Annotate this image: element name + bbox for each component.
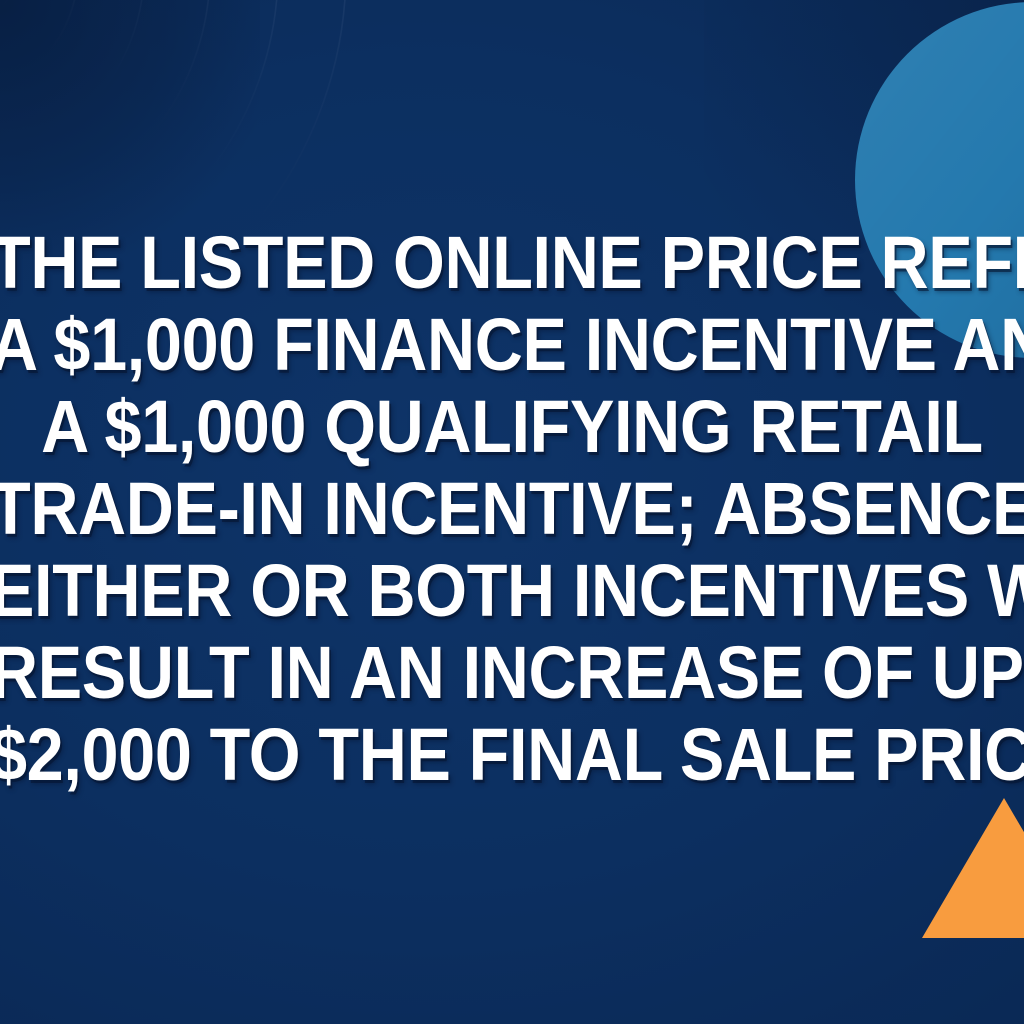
headline-line-2: A $1,000 FINANCE INCENTIVE AND [0, 304, 1024, 386]
headline-line-6: RESULT IN AN INCREASE OF UP TO [0, 632, 1024, 714]
headline-line-5: EITHER OR BOTH INCENTIVES WILL [0, 550, 1024, 632]
headline-line-3: A $1,000 QUALIFYING RETAIL [0, 386, 1024, 468]
orange-triangle [922, 798, 1024, 938]
disclaimer-graphic: THE LISTED ONLINE PRICE REFLECTS A $1,00… [0, 0, 1024, 1024]
disclaimer-headline: THE LISTED ONLINE PRICE REFLECTS A $1,00… [0, 222, 1024, 796]
headline-line-1: THE LISTED ONLINE PRICE REFLECTS [0, 222, 1024, 304]
headline-line-4: TRADE-IN INCENTIVE; ABSENCE OF [0, 468, 1024, 550]
headline-line-7: $2,000 TO THE FINAL SALE PRICE. [0, 714, 1024, 796]
